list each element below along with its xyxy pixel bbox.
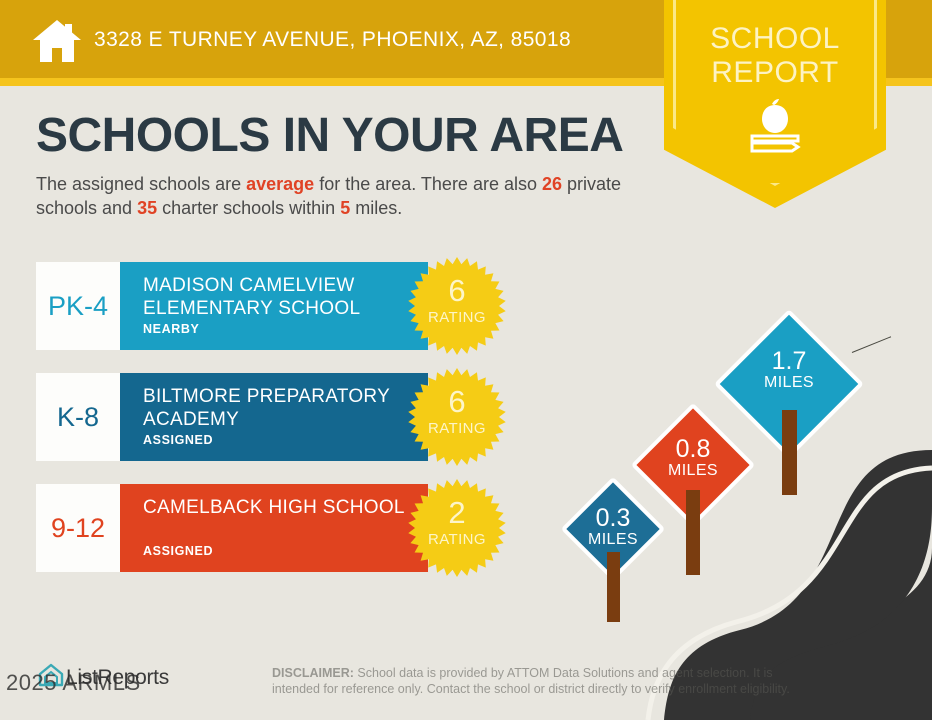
sign-post xyxy=(686,490,700,575)
intro-part1: The assigned schools are xyxy=(36,174,246,194)
road-illustration xyxy=(560,300,932,720)
school-bar: CAMELBACK HIGH SCHOOL ASSIGNED xyxy=(120,484,428,572)
banner-title: SCHOOL REPORT xyxy=(664,22,886,90)
banner-title-line2: REPORT xyxy=(664,56,886,90)
grade-box: K-8 xyxy=(36,373,120,461)
grade-label: K-8 xyxy=(57,402,99,433)
banner-title-line1: SCHOOL xyxy=(664,22,886,56)
intro-paragraph: The assigned schools are average for the… xyxy=(36,172,676,220)
intro-private-count: 26 xyxy=(542,174,562,194)
intro-radius: 5 xyxy=(340,198,350,218)
disclaimer-label: DISCLAIMER: xyxy=(272,666,354,680)
intro-part4: charter schools within xyxy=(157,198,340,218)
grade-box: 9-12 xyxy=(36,484,120,572)
rating-score: 6 xyxy=(408,386,506,417)
rating-caption: RATING xyxy=(408,420,506,437)
property-address: 3328 E TURNEY AVENUE, PHOENIX, AZ, 85018 xyxy=(94,28,571,52)
sign-post xyxy=(782,410,797,495)
school-bar: MADISON CAMELVIEW ELEMENTARY SCHOOL NEAR… xyxy=(120,262,428,350)
school-name: BILTMORE PREPARATORY ACADEMY xyxy=(143,385,413,431)
rating-badge: 2 RATING xyxy=(408,479,506,577)
intro-part5: miles. xyxy=(350,198,402,218)
school-row[interactable]: 9-12 CAMELBACK HIGH SCHOOL ASSIGNED xyxy=(36,484,428,572)
rating-caption: RATING xyxy=(408,309,506,326)
school-status: NEARBY xyxy=(143,322,199,336)
rating-score: 6 xyxy=(408,275,506,306)
grade-label: PK-4 xyxy=(48,291,108,322)
rating-badge: 6 RATING xyxy=(408,257,506,355)
rating-score: 2 xyxy=(408,497,506,528)
house-icon xyxy=(31,18,83,64)
disclaimer-text: DISCLAIMER: School data is provided by A… xyxy=(272,665,812,697)
rating-badge: 6 RATING xyxy=(408,368,506,466)
intro-part2: for the area. There are also xyxy=(314,174,542,194)
school-row[interactable]: K-8 BILTMORE PREPARATORY ACADEMY ASSIGNE… xyxy=(36,373,428,461)
school-status: ASSIGNED xyxy=(143,433,213,447)
school-status: ASSIGNED xyxy=(143,544,213,558)
school-report-infographic: 3328 E TURNEY AVENUE, PHOENIX, AZ, 85018… xyxy=(0,0,932,720)
intro-rating-word: average xyxy=(246,174,314,194)
mls-watermark: 2025 ARMLS xyxy=(6,670,141,696)
rating-caption: RATING xyxy=(408,531,506,548)
grade-box: PK-4 xyxy=(36,262,120,350)
sign-post xyxy=(607,552,620,622)
intro-charter-count: 35 xyxy=(137,198,157,218)
school-bar: BILTMORE PREPARATORY ACADEMY ASSIGNED xyxy=(120,373,428,461)
apple-on-books-icon xyxy=(740,96,810,154)
school-row[interactable]: PK-4 MADISON CAMELVIEW ELEMENTARY SCHOOL… xyxy=(36,262,428,350)
school-name: MADISON CAMELVIEW ELEMENTARY SCHOOL xyxy=(143,274,413,320)
page-title: SCHOOLS IN YOUR AREA xyxy=(36,108,623,163)
school-name: CAMELBACK HIGH SCHOOL xyxy=(143,496,413,519)
grade-label: 9-12 xyxy=(51,513,105,544)
